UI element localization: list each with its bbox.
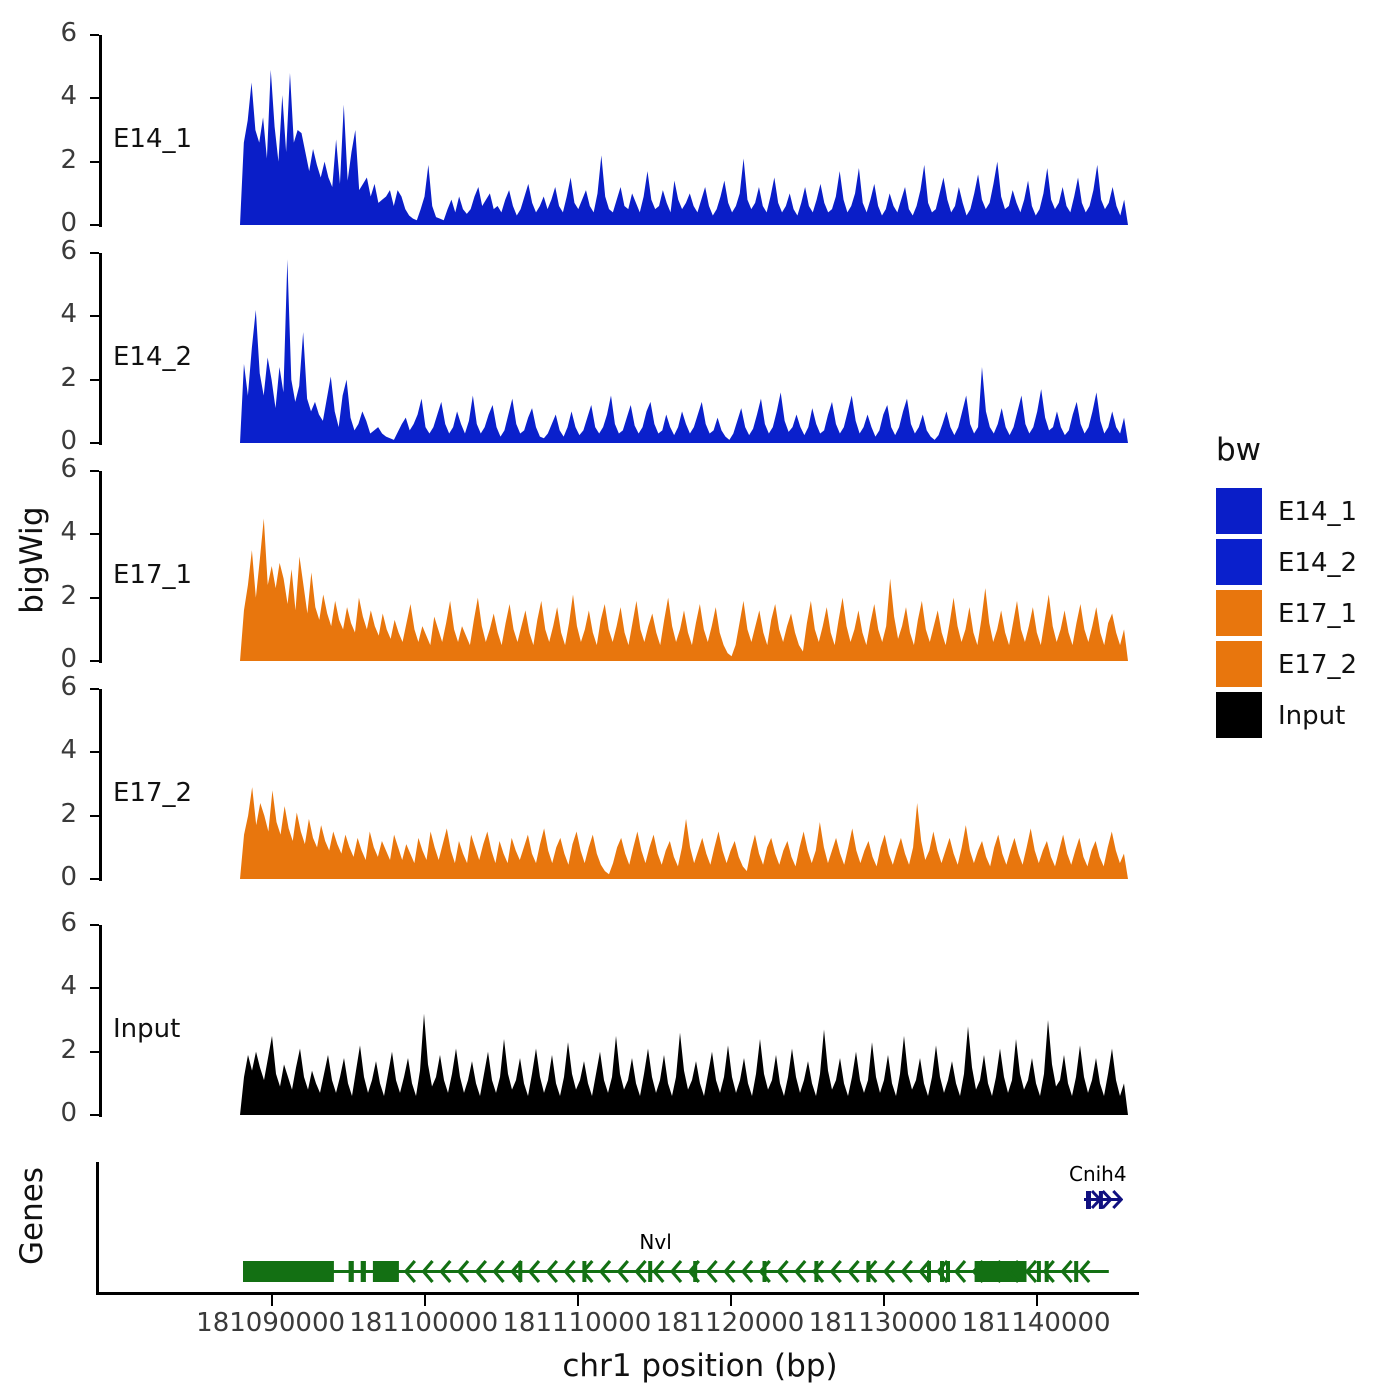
track-label-E14_2: E14_2 (113, 342, 192, 372)
y-tick-label-E14_2-4: 4 (7, 299, 77, 329)
y-tick-E17_2-0 (90, 878, 99, 880)
y-tick-E14_1-6 (90, 34, 99, 36)
track-label-E17_2: E17_2 (113, 778, 192, 808)
y-tick-label-Input-2: 2 (7, 1035, 77, 1065)
y-tick-E17_1-0 (90, 660, 99, 662)
track-label-E17_1: E17_1 (113, 560, 192, 590)
y-axis-line-E14_1 (99, 35, 102, 227)
y-tick-label-E14_2-6: 6 (7, 236, 77, 266)
y-tick-label-E14_1-4: 4 (7, 81, 77, 111)
x-tick-label-181140000: 181140000 (946, 1308, 1126, 1338)
signal-track-E14_1 (240, 35, 1128, 226)
legend-label-Input: Input (1278, 701, 1345, 731)
legend-swatch-E14_1 (1216, 488, 1262, 534)
legend-item-E14_1[interactable]: E14_1 (1216, 488, 1400, 536)
y-tick-label-E17_2-6: 6 (7, 672, 77, 702)
signal-track-E17_1 (240, 471, 1128, 662)
y-tick-label-E17_1-6: 6 (7, 454, 77, 484)
y-tick-Input-4 (90, 987, 99, 989)
x-tick-181130000 (883, 1295, 885, 1306)
y-tick-label-Input-6: 6 (7, 908, 77, 938)
y-axis-line-Input (99, 925, 102, 1117)
y-tick-label-E14_1-2: 2 (7, 145, 77, 175)
y-tick-E17_2-6 (90, 688, 99, 690)
y-tick-label-E17_1-0: 0 (7, 644, 77, 674)
x-axis-title: chr1 position (bp) (0, 1348, 1400, 1384)
y-tick-E14_2-6 (90, 252, 99, 254)
y-tick-Input-2 (90, 1051, 99, 1053)
gene-label-nvl: Nvl (596, 1230, 716, 1254)
y-axis-line-E17_1 (99, 471, 102, 663)
track-label-Input: Input (113, 1014, 180, 1044)
y-tick-label-Input-0: 0 (7, 1098, 77, 1128)
x-tick-181090000 (271, 1295, 273, 1306)
signal-track-E17_2 (240, 689, 1128, 880)
y-tick-E17_1-6 (90, 470, 99, 472)
y-tick-label-Input-4: 4 (7, 971, 77, 1001)
y-tick-Input-6 (90, 924, 99, 926)
legend-label-E17_2: E17_2 (1278, 650, 1357, 680)
y-tick-label-E14_2-2: 2 (7, 363, 77, 393)
y-tick-E17_1-4 (90, 533, 99, 535)
y-tick-label-E17_1-2: 2 (7, 581, 77, 611)
signal-track-E14_2 (240, 253, 1128, 444)
y-tick-label-E14_2-0: 0 (7, 426, 77, 456)
y-tick-label-E17_1-4: 4 (7, 517, 77, 547)
y-tick-E14_2-0 (90, 442, 99, 444)
legend-item-E17_1[interactable]: E17_1 (1216, 590, 1400, 638)
legend-label-E14_2: E14_2 (1278, 548, 1357, 578)
legend-title: bw (1216, 432, 1261, 468)
track-label-E14_1: E14_1 (113, 124, 192, 154)
legend-swatch-E17_2 (1216, 641, 1262, 687)
y-tick-E14_1-2 (90, 161, 99, 163)
x-tick-181140000 (1036, 1295, 1038, 1306)
gene-label-cnih4: Cnih4 (1038, 1162, 1158, 1186)
genes-axis-title: Genes (14, 1167, 50, 1265)
signal-track-Input (240, 925, 1128, 1116)
y-tick-label-E17_2-4: 4 (7, 735, 77, 765)
genes-axis-line (96, 1162, 99, 1292)
x-tick-181100000 (424, 1295, 426, 1306)
legend-swatch-Input (1216, 692, 1262, 738)
y-tick-E17_1-2 (90, 597, 99, 599)
legend-item-Input[interactable]: Input (1216, 692, 1400, 740)
x-tick-181110000 (577, 1295, 579, 1306)
legend-label-E14_1: E14_1 (1278, 497, 1357, 527)
y-tick-label-E14_1-6: 6 (7, 18, 77, 48)
gene-body-nvl[interactable] (243, 1255, 1113, 1293)
y-tick-E14_2-2 (90, 379, 99, 381)
legend-item-E14_2[interactable]: E14_2 (1216, 539, 1400, 587)
y-axis-line-E14_2 (99, 253, 102, 445)
legend-item-E17_2[interactable]: E17_2 (1216, 641, 1400, 689)
y-tick-label-E17_2-0: 0 (7, 862, 77, 892)
legend-label-E17_1: E17_1 (1278, 599, 1357, 629)
legend-swatch-E17_1 (1216, 590, 1262, 636)
y-tick-E14_1-4 (90, 97, 99, 99)
y-axis-line-E17_2 (99, 689, 102, 881)
y-tick-Input-0 (90, 1114, 99, 1116)
y-tick-E14_1-0 (90, 224, 99, 226)
y-tick-E17_2-4 (90, 751, 99, 753)
y-tick-label-E14_1-0: 0 (7, 208, 77, 238)
y-tick-E14_2-4 (90, 315, 99, 317)
gene-body-cnih4[interactable] (1084, 1187, 1124, 1217)
legend-swatch-E14_2 (1216, 539, 1262, 585)
x-tick-181120000 (730, 1295, 732, 1306)
y-tick-E17_2-2 (90, 815, 99, 817)
y-tick-label-E17_2-2: 2 (7, 799, 77, 829)
